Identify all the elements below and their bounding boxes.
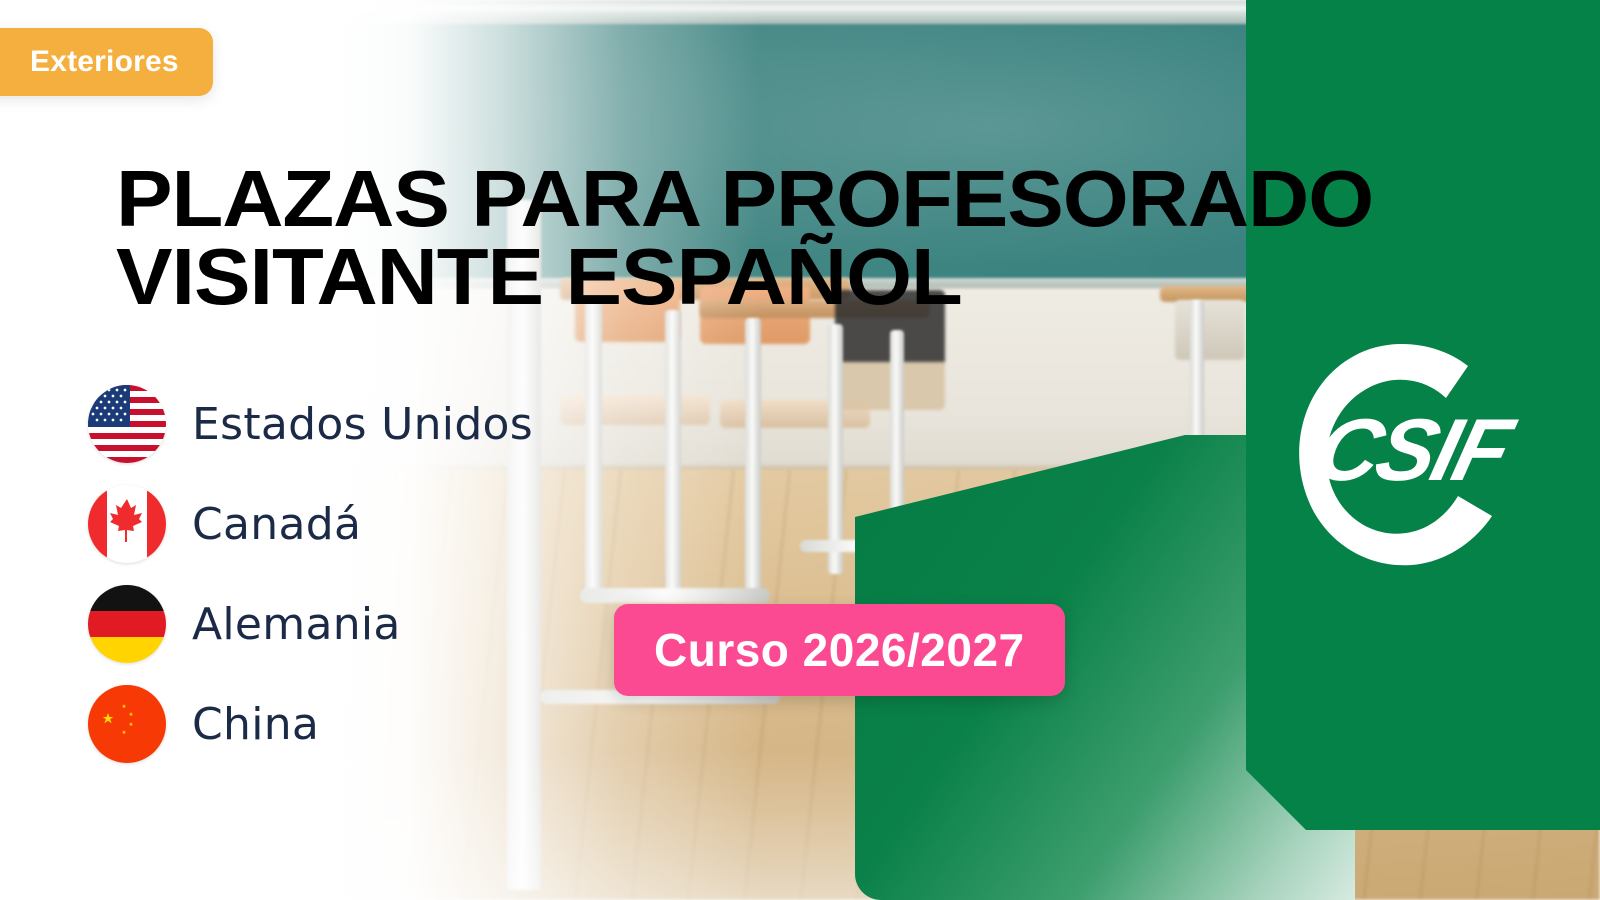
page-title: PLAZAS PARA PROFESORADO VISITANTE ESPAÑO… [116, 160, 1558, 317]
country-label: Estados Unidos [192, 399, 533, 450]
course-badge[interactable]: Curso 2026/2027 [614, 604, 1065, 696]
list-item[interactable]: Estados Unidos [88, 382, 533, 466]
csif-logo[interactable]: CSIF [1262, 330, 1530, 580]
csif-wordmark-icon: CSIF [1306, 400, 1524, 498]
country-label: Alemania [192, 599, 401, 650]
list-item[interactable]: Alemania [88, 582, 533, 666]
flag-germany-icon [88, 585, 166, 663]
category-badge-label: Exteriores [30, 45, 179, 79]
course-badge-label: Curso 2026/2027 [654, 623, 1025, 677]
page-title-line-2: VISITANTE ESPAÑOL [116, 238, 1558, 316]
country-list: Estados Unidos Canadá Alemania [88, 382, 533, 766]
desk-leg [828, 324, 843, 574]
page-title-line-1: PLAZAS PARA PROFESORADO [116, 154, 1373, 243]
flag-usa-icon [88, 385, 166, 463]
poster-canvas: CSIF Exteriores PLAZAS PARA PROFESORADO … [0, 0, 1600, 900]
country-label: Canadá [192, 499, 361, 550]
list-item[interactable]: Canadá [88, 482, 533, 566]
flag-china-icon [88, 685, 166, 763]
bottom-white-fade [0, 750, 1000, 900]
country-label: China [192, 699, 319, 750]
list-item[interactable]: China [88, 682, 533, 766]
category-badge[interactable]: Exteriores [0, 28, 213, 96]
flag-canada-icon [88, 485, 166, 563]
svg-text:CSIF: CSIF [1306, 400, 1524, 498]
